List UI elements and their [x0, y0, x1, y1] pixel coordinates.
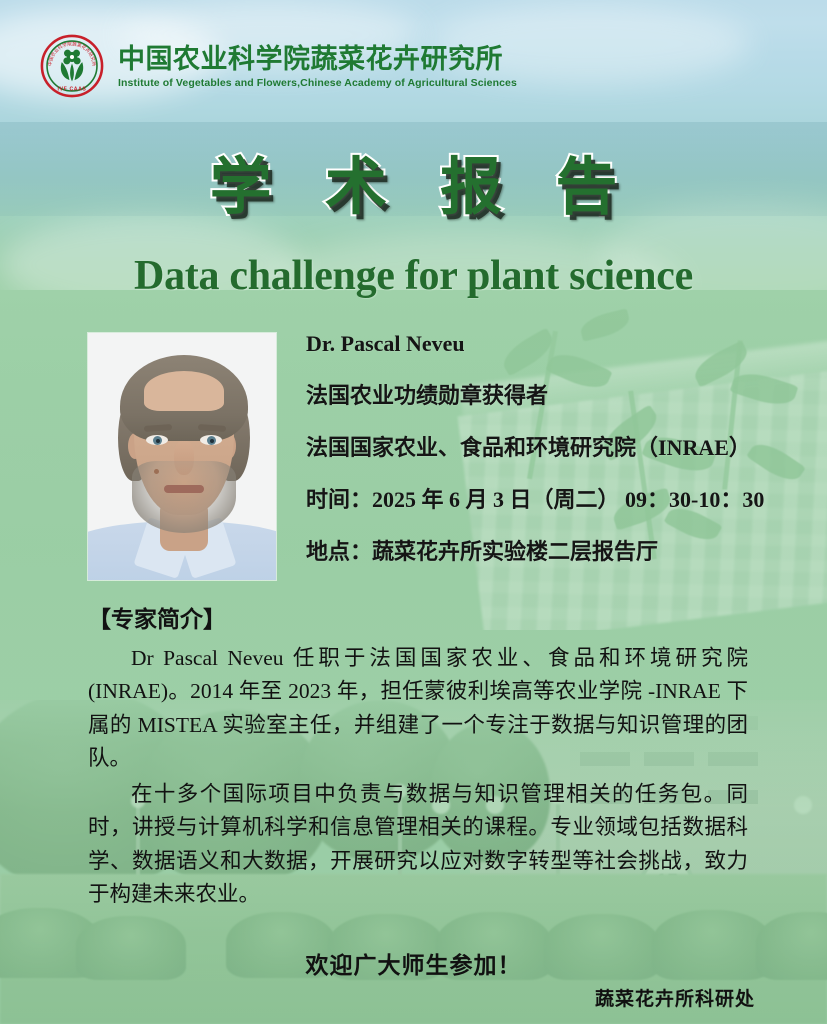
speaker-bio-block: 【专家简介】 Dr Pascal Neveu 任职于法国国家农业、食品和环境研究…: [88, 606, 748, 914]
welcome-note: 欢迎广大师生参加！: [0, 946, 827, 980]
portrait-forehead: [144, 371, 224, 411]
issuing-department: 蔬菜花卉所科研处: [595, 984, 755, 1011]
portrait-eye-left: [146, 435, 168, 445]
speaker-name: Dr. Pascal Neveu: [306, 333, 806, 355]
institute-name-en: Institute of Vegetables and Flowers,Chin…: [118, 77, 517, 89]
lecture-venue: 地点：蔬菜花卉所实验楼二层报告厅: [306, 541, 806, 563]
portrait-mouth: [164, 485, 204, 493]
institute-name-cn: 中国农业科学院蔬菜花卉研究所: [118, 45, 517, 73]
bio-paragraph-2: 在十多个国际项目中负责与数据与知识管理相关的任务包。同时，讲授与计算机科学和信息…: [88, 778, 748, 912]
institute-header: 中国农业科学院蔬菜花卉研究所 IVF CAAS: [40, 34, 517, 98]
poster-banner-title: 学 术 报 告: [0, 136, 827, 226]
lecture-title: Data challenge for plant science: [0, 252, 827, 300]
portrait-beard: [132, 461, 236, 533]
bio-heading: 【专家简介】: [88, 606, 748, 634]
poster-root: 15 中国农业科学院蔬菜花卉研究所: [0, 0, 827, 1024]
portrait-iris-left: [153, 436, 162, 445]
bio-paragraph-1: Dr Pascal Neveu 任职于法国国家农业、食品和环境研究院 (INRA…: [88, 642, 748, 776]
speaker-portrait-photo: [88, 333, 276, 580]
svg-text:IVF CAAS: IVF CAAS: [58, 86, 87, 92]
institute-name-block: 中国农业科学院蔬菜花卉研究所 Institute of Vegetables a…: [118, 43, 517, 89]
portrait-mole: [154, 469, 159, 474]
speaker-honor: 法国农业功绩勋章获得者: [306, 385, 806, 407]
lecture-time: 时间：2025 年 6 月 3 日（周二） 09：30-10：30: [306, 489, 806, 511]
speaker-affiliation: 法国国家农业、食品和环境研究院（INRAE）: [306, 437, 806, 459]
institute-logo-icon: 中国农业科学院蔬菜花卉研究所 IVF CAAS: [40, 34, 104, 98]
portrait-iris-right: [207, 436, 216, 445]
portrait-pupil-right: [210, 439, 214, 443]
portrait-pupil-left: [156, 439, 160, 443]
portrait-eye-right: [200, 435, 222, 445]
speaker-info-block: Dr. Pascal Neveu 法国农业功绩勋章获得者 法国国家农业、食品和环…: [306, 333, 806, 563]
